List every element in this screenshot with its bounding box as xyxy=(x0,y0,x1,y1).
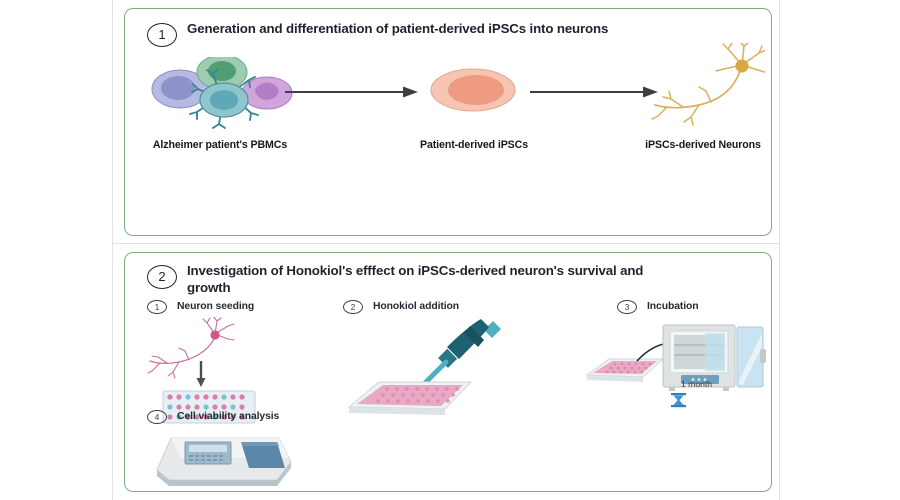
right-arrow-icon-1 xyxy=(285,85,420,99)
step-1-label: Neuron seeding xyxy=(177,301,254,312)
step-2-label: Honokiol addition xyxy=(373,301,459,312)
ipsc-cell-icon xyxy=(428,65,518,115)
incubation-duration-label: 1 month xyxy=(681,379,712,389)
figure-panel-divider xyxy=(112,243,780,244)
panel-1-title: Generation and differentiation of patien… xyxy=(187,21,617,38)
plate-reader-icon xyxy=(151,428,301,488)
hourglass-icon-shape xyxy=(671,393,686,407)
step-4-label: Cell viability analysis xyxy=(177,411,279,422)
pbmc-cell-cluster-icon xyxy=(147,57,297,137)
panel-1: 1 Generation and differentiation of pati… xyxy=(124,8,772,236)
neuron-icon xyxy=(647,43,765,135)
scientific-figure: 1 Generation and differentiation of pati… xyxy=(0,0,900,500)
step-2-number-badge: 2 xyxy=(343,300,363,314)
pipette-and-microplate-icon xyxy=(343,319,503,419)
stage-2-caption: Patient-derived iPSCs xyxy=(399,139,549,152)
step-4-number-badge: 4 xyxy=(147,410,167,424)
stage-3-caption: iPSCs-derived Neurons xyxy=(637,139,769,152)
step-3-number-badge: 3 xyxy=(617,300,637,314)
panel-1-number-badge: 1 xyxy=(147,23,177,47)
right-arrow-icon-2 xyxy=(530,85,660,99)
step-1-number-badge: 1 xyxy=(147,300,167,314)
panel-2-number-badge: 2 xyxy=(147,265,177,289)
stage-1-caption: Alzheimer patient's PBMCs xyxy=(135,139,305,152)
neuron-to-plate-icon xyxy=(145,317,275,425)
panel-2: 2 Investigation of Honokiol's efffect on… xyxy=(124,252,772,492)
step-3-label: Incubation xyxy=(647,301,699,312)
panel-2-title: Investigation of Honokiol's efffect on i… xyxy=(187,263,657,296)
incubator-icon xyxy=(585,317,770,409)
